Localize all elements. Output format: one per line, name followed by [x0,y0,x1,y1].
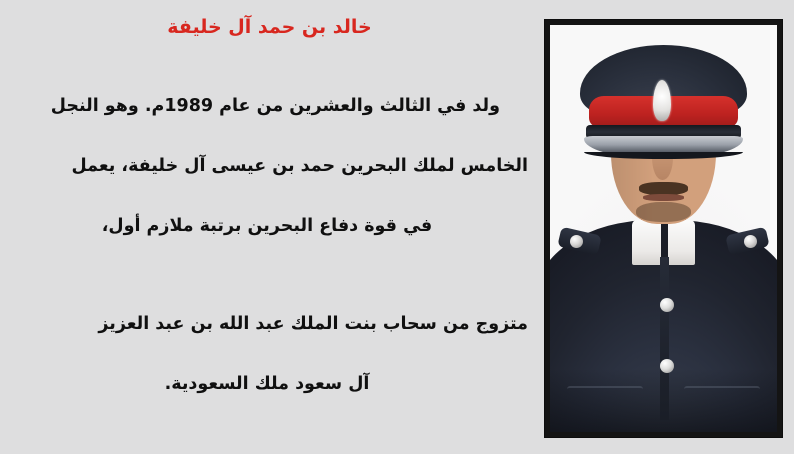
portrait-photo-frame [545,20,782,437]
bio-paragraph-2: متزوج من سحاب بنت الملك عبد الله بن عبد … [6,294,530,414]
shoulder-button-left [570,235,583,248]
paragraph-2-line-1: متزوج من سحاب بنت الملك عبد الله بن عبد … [6,294,530,354]
mustache [639,182,689,195]
text-column: خالد بن حمد آل خليفة ولد في الثالث والعش… [6,0,530,454]
paragraph-1-line-2: الخامس لملك البحرين حمد بن عيسى آل خليفة… [6,136,530,196]
slide-page: خالد بن حمد آل خليفة ولد في الثالث والعش… [0,0,794,454]
uniform-placket [660,257,669,420]
bio-paragraph-1: ولد في الثالث والعشرين من عام 1989م. وهو… [6,76,530,256]
uniform-button-lower [660,359,674,373]
uniform-pocket-right [684,386,760,422]
paragraph-2-line-2: آل سعود ملك السعودية. [6,354,530,414]
body-text-block: ولد في الثالث والعشرين من عام 1989م. وهو… [6,76,530,414]
uniform-pocket-left [567,386,643,422]
page-title: خالد بن حمد آل خليفة [94,13,445,41]
portrait-photo [550,25,777,432]
uniform-button-upper [660,298,674,312]
paragraph-1-line-3: في قوة دفاع البحرين برتبة ملازم أول، [6,196,530,256]
paragraph-gap [6,256,530,294]
shoulder-button-right [744,235,757,248]
chin-beard [636,202,690,222]
mouth [643,194,684,201]
paragraph-1-line-1: ولد في الثالث والعشرين من عام 1989م. وهو… [6,76,530,136]
